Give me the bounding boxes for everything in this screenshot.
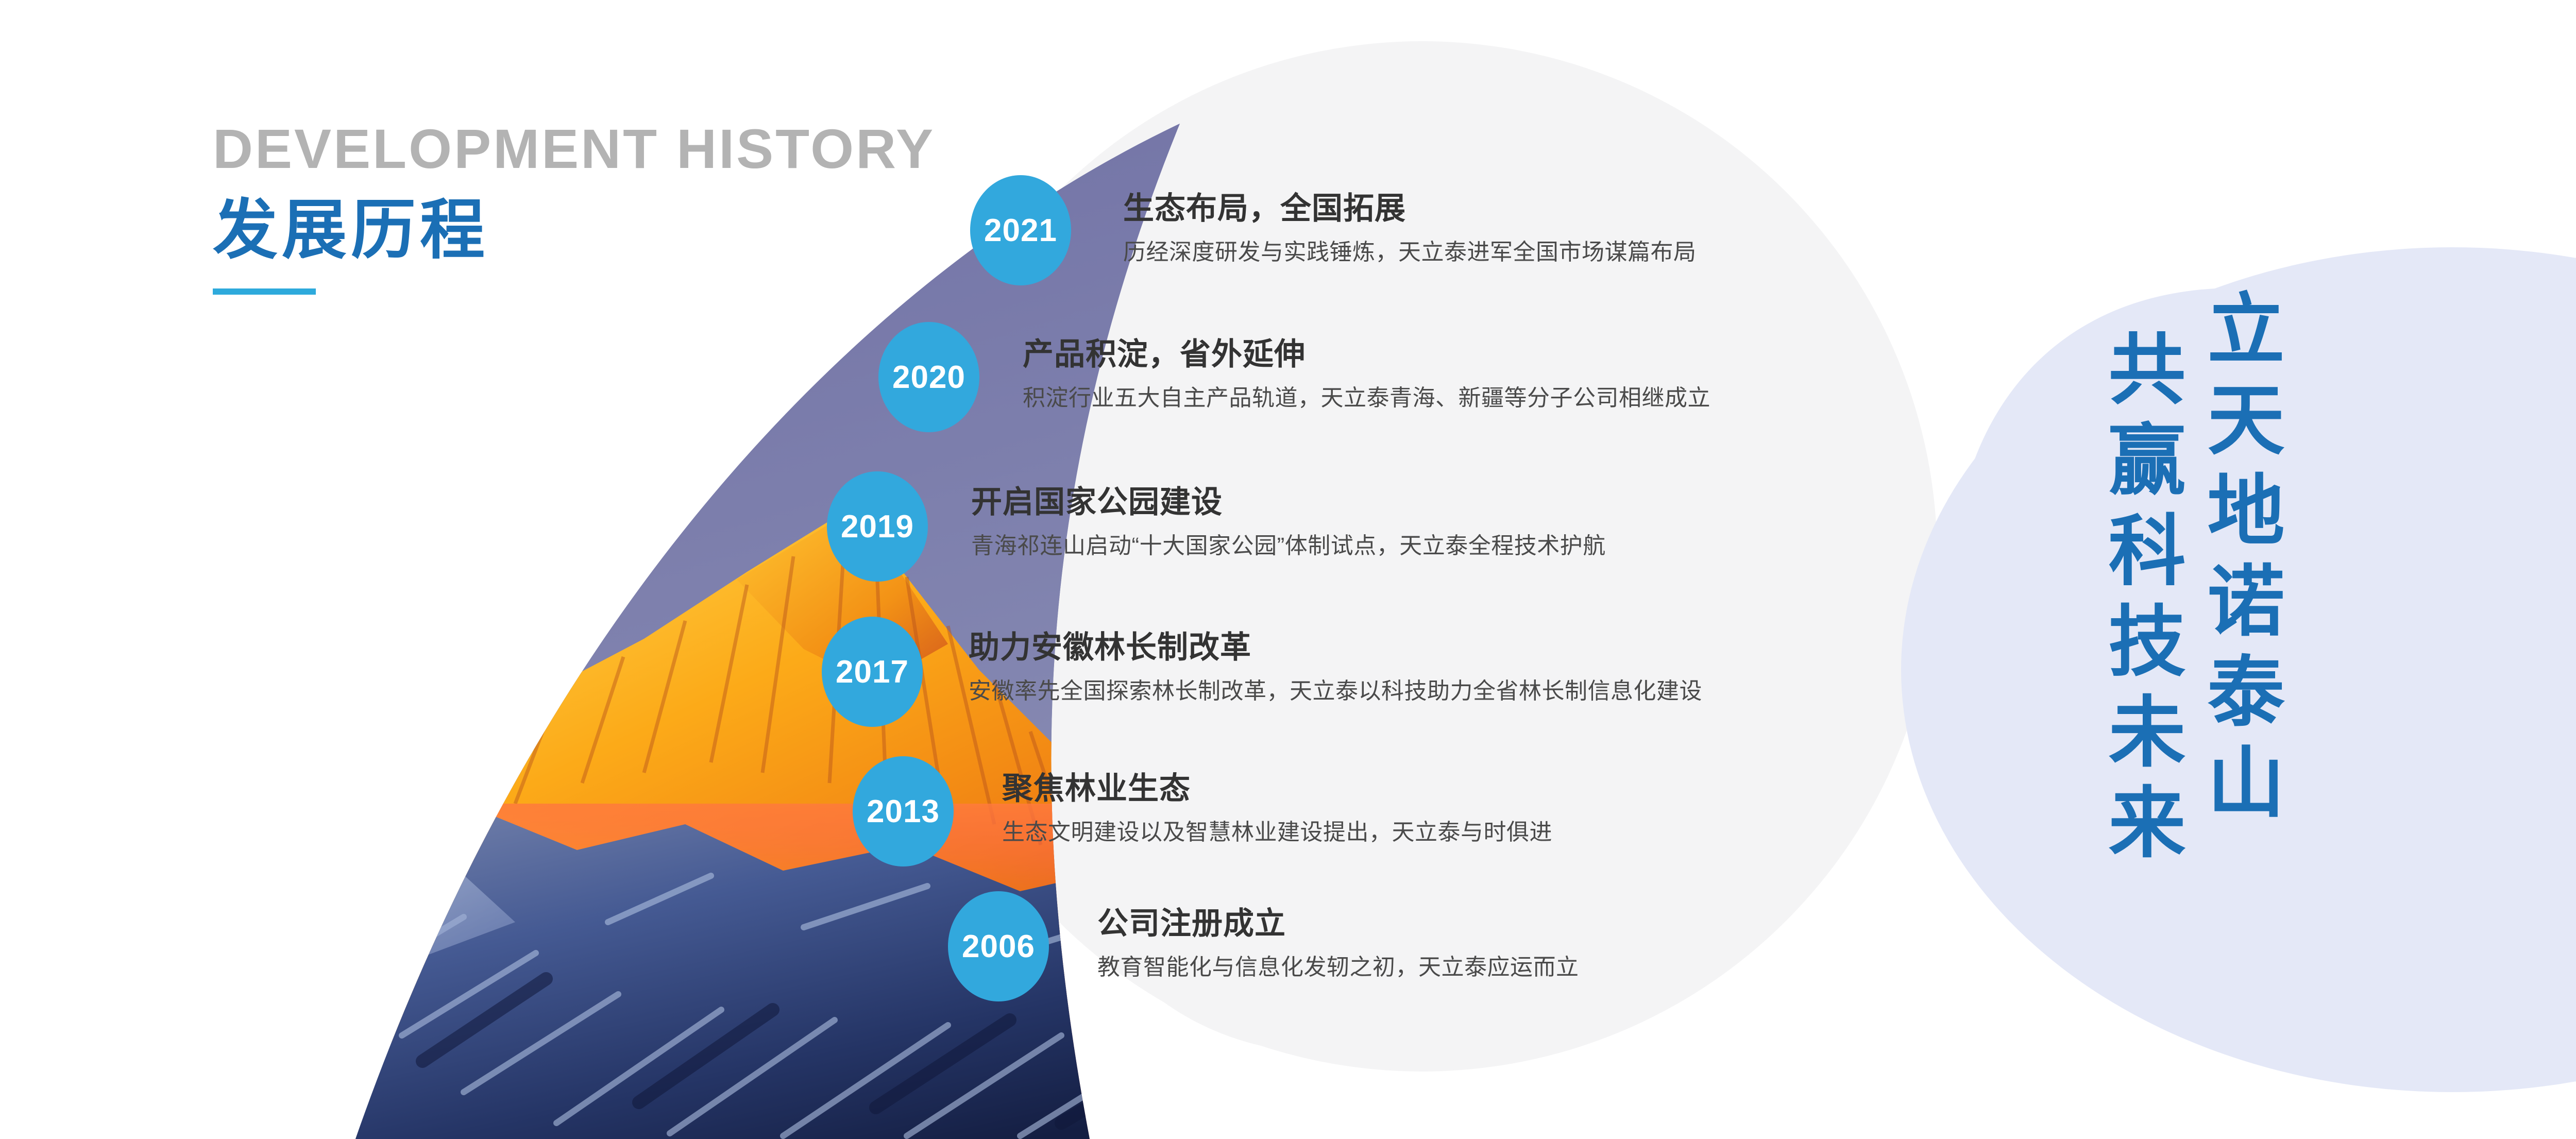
timeline-text-2006: 公司注册成立 教育智能化与信息化发轫之初，天立泰应运而立 (1097, 907, 1579, 981)
timeline-desc-2021: 历经深度研发与实践锤炼，天立泰进军全国市场谋篇布局 (1123, 239, 1697, 266)
heading-underline-rule (213, 288, 316, 295)
slide-canvas: DEVELOPMENT HISTORY 发展历程 2021 生态布局，全国拓展 … (0, 0, 2576, 1139)
timeline-text-2019: 开启国家公园建设 青海祁连山启动“十大国家公园”体制试点，天立泰全程技术护航 (971, 485, 1606, 560)
timeline-text-2017: 助力安徽林长制改革 安徽率先全国探索林长制改革，天立泰以科技助力全省林长制信息化… (969, 631, 1702, 705)
timeline-year-badge-2017[interactable]: 2017 (822, 617, 923, 727)
page-title-cn: 发展历程 (213, 196, 935, 264)
timeline-text-2013: 聚焦林业生态 生态文明建设以及智慧林业建设提出，天立泰与时俱进 (1002, 772, 1552, 846)
timeline-title-2006: 公司注册成立 (1097, 907, 1579, 941)
brand-slogan-column-right: 立天地诺泰山 (2201, 288, 2278, 873)
timeline-title-2021: 生态布局，全国拓展 (1123, 192, 1697, 226)
brand-slogan: 共赢科技未来 立天地诺泰山 (2102, 288, 2576, 873)
timeline-title-2019: 开启国家公园建设 (971, 485, 1606, 519)
timeline-text-2020: 产品积淀，省外延伸 积淀行业五大自主产品轨道，天立泰青海、新疆等分子公司相继成立 (1023, 337, 1710, 412)
timeline-desc-2006: 教育智能化与信息化发轫之初，天立泰应运而立 (1097, 954, 1579, 981)
timeline-text-2021: 生态布局，全国拓展 历经深度研发与实践锤炼，天立泰进军全国市场谋篇布局 (1123, 192, 1697, 266)
timeline-desc-2013: 生态文明建设以及智慧林业建设提出，天立泰与时俱进 (1002, 819, 1552, 846)
timeline-year-badge-2006[interactable]: 2006 (948, 891, 1049, 1001)
timeline-desc-2019: 青海祁连山启动“十大国家公园”体制试点，天立泰全程技术护航 (971, 533, 1606, 560)
timeline-title-2017: 助力安徽林长制改革 (969, 631, 1702, 665)
timeline-desc-2017: 安徽率先全国探索林长制改革，天立泰以科技助力全省林长制信息化建设 (969, 678, 1702, 705)
timeline-year-badge-2013[interactable]: 2013 (853, 756, 954, 866)
timeline-desc-2020: 积淀行业五大自主产品轨道，天立泰青海、新疆等分子公司相继成立 (1023, 385, 1710, 412)
timeline-year-badge-2021[interactable]: 2021 (970, 175, 1071, 285)
page-title-en: DEVELOPMENT HISTORY (213, 120, 935, 178)
timeline-title-2013: 聚焦林业生态 (1002, 772, 1552, 806)
page-heading: DEVELOPMENT HISTORY 发展历程 (213, 120, 935, 295)
brand-slogan-column-left: 共赢科技未来 (2102, 329, 2179, 873)
timeline-year-badge-2019[interactable]: 2019 (827, 471, 928, 582)
timeline-year-badge-2020[interactable]: 2020 (878, 322, 979, 432)
timeline-title-2020: 产品积淀，省外延伸 (1023, 337, 1710, 371)
